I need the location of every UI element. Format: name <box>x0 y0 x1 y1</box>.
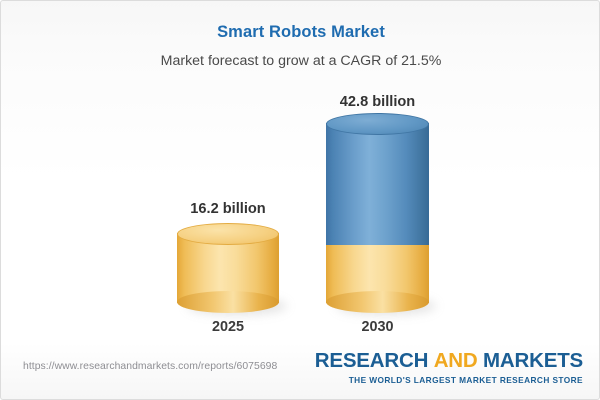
cylinder-2025 <box>177 223 279 313</box>
source-url-link[interactable]: https://www.researchandmarkets.com/repor… <box>23 361 277 372</box>
segment-base-2025 <box>177 223 279 313</box>
category-label-2030: 2030 <box>278 319 478 335</box>
cylinder-top-ellipse <box>326 113 429 135</box>
brand-logo[interactable]: RESEARCH AND MARKETS THE WORLD'S LARGEST… <box>315 350 583 385</box>
bar-group-2025[interactable]: 16.2 billion 2025 <box>177 1 279 349</box>
logo-tagline: THE WORLD'S LARGEST MARKET RESEARCH STOR… <box>315 375 583 385</box>
cylinder-top-ellipse <box>177 223 279 245</box>
infographic-card: Smart Robots Market Market forecast to g… <box>0 0 600 400</box>
logo-word-markets: MARKETS <box>483 349 583 372</box>
logo-wordmark: RESEARCH AND MARKETS <box>315 350 583 373</box>
logo-word-and: AND <box>434 349 478 372</box>
segment-growth-2030 <box>326 113 429 245</box>
footer: https://www.researchandmarkets.com/repor… <box>1 347 600 399</box>
cylinder-bottom-ellipse <box>177 291 279 313</box>
logo-word-research: RESEARCH <box>315 349 428 372</box>
value-label-2025: 16.2 billion <box>128 201 328 217</box>
cylinder-2030 <box>326 113 429 313</box>
cylinder-body <box>326 123 429 245</box>
bar-group-2030[interactable]: 42.8 billion 2030 <box>326 1 429 349</box>
cylinder-bottom-ellipse <box>326 291 429 313</box>
chart-plot-area: 16.2 billion 2025 42.8 billion <box>1 1 600 349</box>
value-label-2030: 42.8 billion <box>278 94 478 110</box>
